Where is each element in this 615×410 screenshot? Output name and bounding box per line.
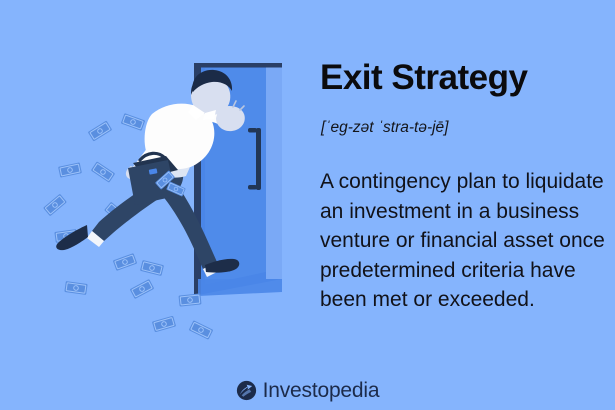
illustration xyxy=(0,0,310,370)
text-column: Exit Strategy [ˈeg-zət ˈstra-tə-jē] A co… xyxy=(320,0,608,370)
investopedia-swoosh-icon xyxy=(236,380,257,401)
investopedia-logo: Investopedia xyxy=(0,370,615,410)
definition-text: A contingency plan to liquidate an inves… xyxy=(320,167,605,315)
definition-card: Exit Strategy [ˈeg-zət ˈstra-tə-jē] A co… xyxy=(0,0,615,410)
pronunciation: [ˈeg-zət ˈstra-tə-jē] xyxy=(321,119,448,137)
page-title: Exit Strategy xyxy=(320,59,527,97)
brand-name: Investopedia xyxy=(263,380,380,401)
door-frame-top xyxy=(194,63,282,68)
door-right-edge xyxy=(266,63,282,279)
